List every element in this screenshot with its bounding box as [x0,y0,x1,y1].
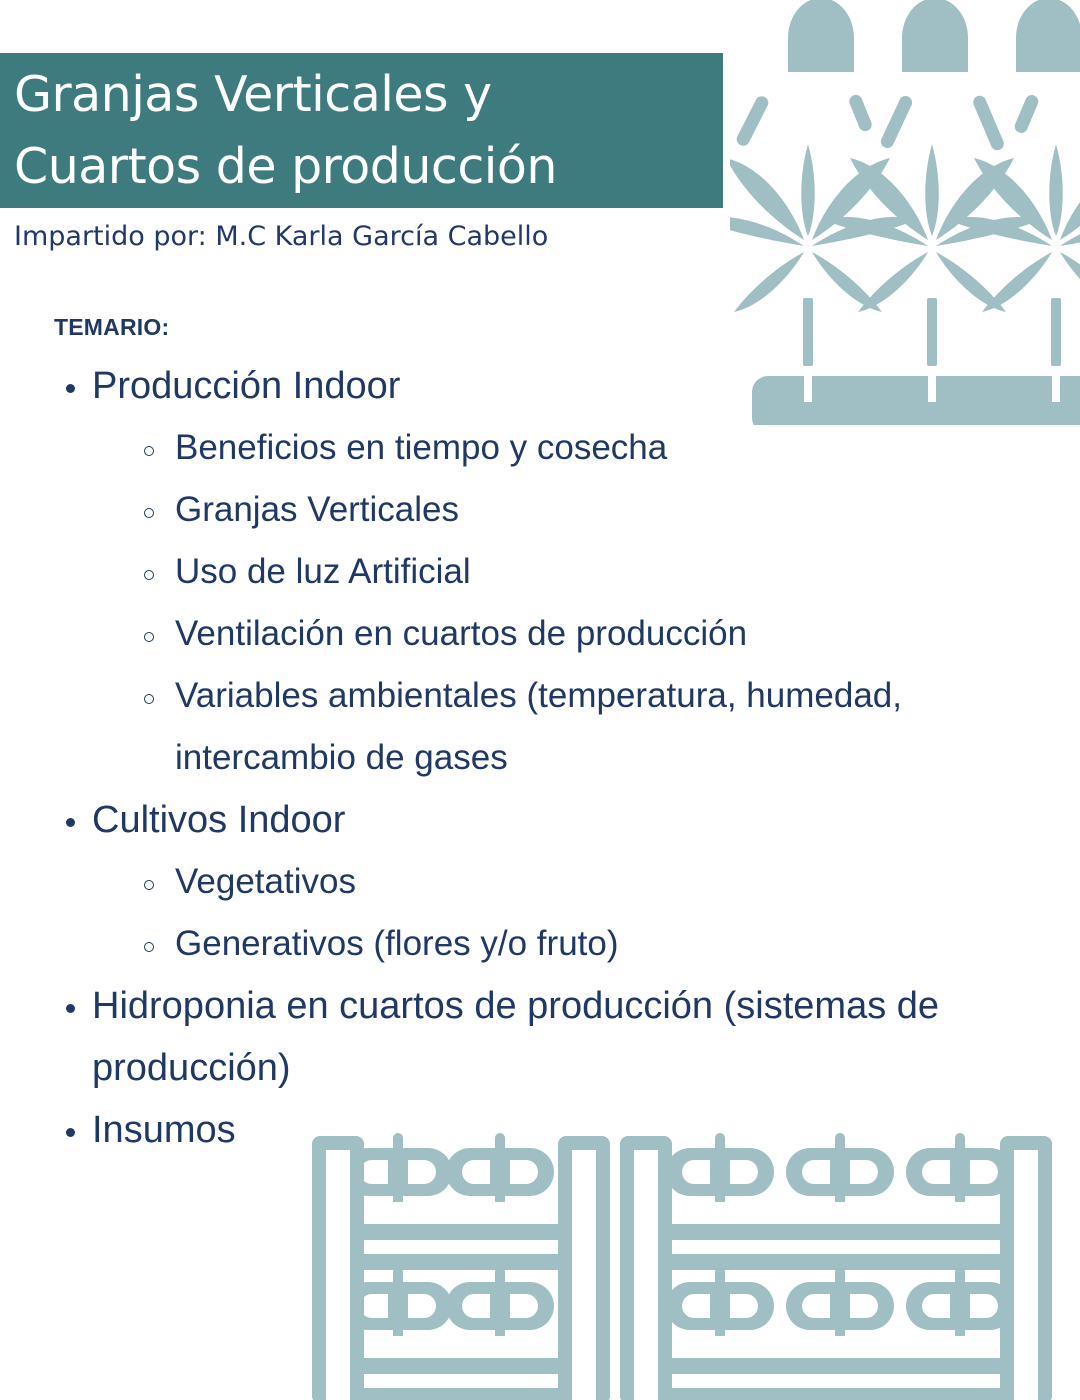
agenda-subitem-label: Ventilación en cuartos de producción [175,603,960,665]
bullet-disc-icon [66,818,75,827]
agenda-subitem: Granjas Verticales [0,479,960,541]
bullet-circle-icon [144,446,154,456]
agenda-subitem: Uso de luz Artificial [0,541,960,603]
agenda-subitem-label: Granjas Verticales [175,479,960,541]
title-banner: Granjas Verticales y Cuartos de producci… [0,53,723,208]
agenda-subitem-label: Uso de luz Artificial [175,541,960,603]
agenda-subitem: Ventilación en cuartos de producción [0,603,960,665]
agenda-list: Producción Indoor Beneficios en tiempo y… [0,355,960,1161]
agenda-subitem: Beneficios en tiempo y cosecha [0,417,960,479]
agenda-subitem: Generativos (flores y/o fruto) [0,913,960,975]
bullet-circle-icon [144,632,154,642]
agenda-subitem-label: Beneficios en tiempo y cosecha [175,417,960,479]
agenda-item-label: Insumos [92,1099,960,1161]
bullet-circle-icon [144,508,154,518]
bullet-disc-icon [66,1128,75,1137]
agenda-item: Producción Indoor [0,355,960,417]
agenda-subitem-label: Variables ambientales (temperatura, hume… [175,665,960,789]
agenda-heading: TEMARIO: [54,312,960,342]
agenda-subitem-label: Generativos (flores y/o fruto) [175,913,960,975]
bullet-circle-icon [144,694,154,704]
agenda-item-label: Cultivos Indoor [92,789,960,851]
agenda-subitem: Variables ambientales (temperatura, hume… [0,665,960,789]
bullet-circle-icon [144,570,154,580]
poster-title-line-1: Granjas Verticales y [0,53,723,131]
agenda-item-label: Hidroponia en cuartos de producción (sis… [92,975,960,1099]
bullet-disc-icon [66,1004,75,1013]
poster-canvas: Granjas Verticales y Cuartos de producci… [0,0,1080,1400]
poster-title-line-2: Cuartos de producción [0,131,723,203]
bullet-circle-icon [144,880,154,890]
agenda-subitem-label: Vegetativos [175,851,960,913]
agenda-subitem: Vegetativos [0,851,960,913]
agenda-item: Insumos [0,1099,960,1161]
presenter-subtitle: Impartido por: M.C Karla García Cabello [14,220,548,254]
agenda-item: Hidroponia en cuartos de producción (sis… [0,975,960,1099]
agenda-item: Cultivos Indoor [0,789,960,851]
agenda-item-label: Producción Indoor [92,355,960,417]
bullet-disc-icon [66,384,75,393]
agenda-section: TEMARIO: Producción Indoor Beneficios en… [0,312,960,1161]
bullet-circle-icon [144,942,154,952]
vertical-farm-rack-illustration [300,1120,1080,1400]
